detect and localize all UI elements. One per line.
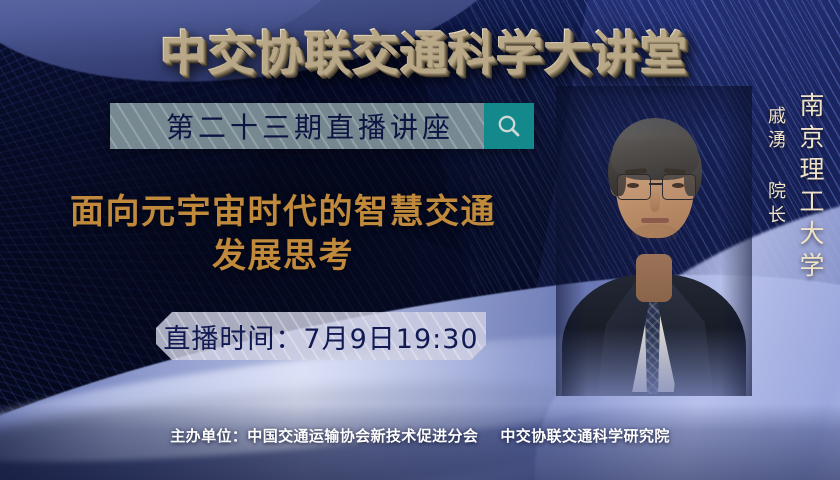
episode-bar: 第二十三期直播讲座	[110, 103, 534, 149]
headline-line-2: 发展思考	[28, 234, 538, 278]
broadcast-time-badge: 直播时间：7月9日19:30	[156, 312, 486, 360]
organizer-primary: 中国交通运输协会新技术促进分会	[247, 427, 478, 445]
headline-line-1: 面向元宇宙时代的智慧交通	[70, 192, 496, 232]
page-title: 中交协联交通科学大讲堂	[0, 14, 840, 83]
live-lecture-poster: 中交协联交通科学大讲堂 中交协联交通科学大讲堂 第二十三期直播讲座 面向元宇宙时…	[0, 0, 840, 480]
speaker-portrait	[556, 86, 752, 396]
speaker-name-title: 戚湧 院长	[762, 106, 788, 229]
search-icon	[496, 113, 522, 139]
organizer-secondary: 中交协联交通科学研究院	[500, 427, 669, 445]
portrait-edge-fade	[556, 86, 752, 396]
speaker-organization: 南京理工大学	[792, 92, 828, 284]
footer-organizers: 主办单位：中国交通运输协会新技术促进分会中交协联交通科学研究院	[0, 425, 840, 446]
organizer-label: 主办单位：	[170, 427, 247, 445]
episode-label: 第二十三期直播讲座	[110, 103, 484, 149]
lecture-headline: 面向元宇宙时代的智慧交通 发展思考	[28, 190, 538, 278]
search-icon-box[interactable]	[484, 103, 534, 149]
